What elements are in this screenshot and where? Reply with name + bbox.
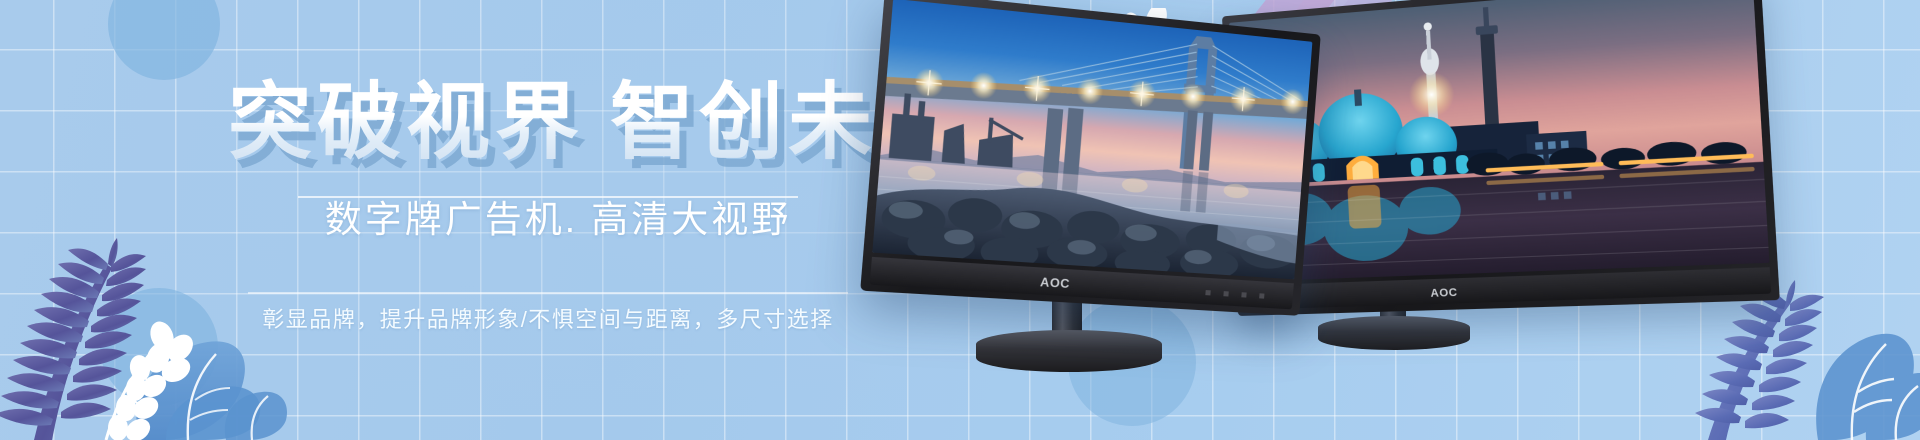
monitor-left-logo: AOC bbox=[1040, 275, 1071, 291]
monitor-left-stand-base bbox=[976, 330, 1162, 372]
bridge-scene-image bbox=[872, 0, 1312, 279]
monitor-left-bezel: AOC bbox=[860, 0, 1321, 316]
monitor-left-screen bbox=[872, 0, 1312, 279]
monitor-right-stand-base bbox=[1318, 316, 1470, 350]
monitor-right-logo: AOC bbox=[1430, 287, 1458, 300]
tagline-divider bbox=[248, 292, 848, 294]
monitor-left: AOC bbox=[890, 34, 1310, 316]
fern-leaf-left-decoration bbox=[0, 172, 290, 440]
promo-banner: 突破视界智创未来 数字牌广告机. 高清大视野 彰显品牌，提升品牌形象/不惧空间与… bbox=[0, 0, 1920, 440]
monitor-group: AOC bbox=[880, 0, 1920, 440]
tagline: 彰显品牌，提升品牌形象/不惧空间与距离，多尺寸选择 bbox=[230, 300, 866, 340]
headline: 突破视界智创未来 bbox=[228, 74, 966, 170]
headline-part1: 突破视界 bbox=[228, 75, 584, 169]
subtitle: 数字牌广告机. 高清大视野 bbox=[298, 192, 818, 248]
